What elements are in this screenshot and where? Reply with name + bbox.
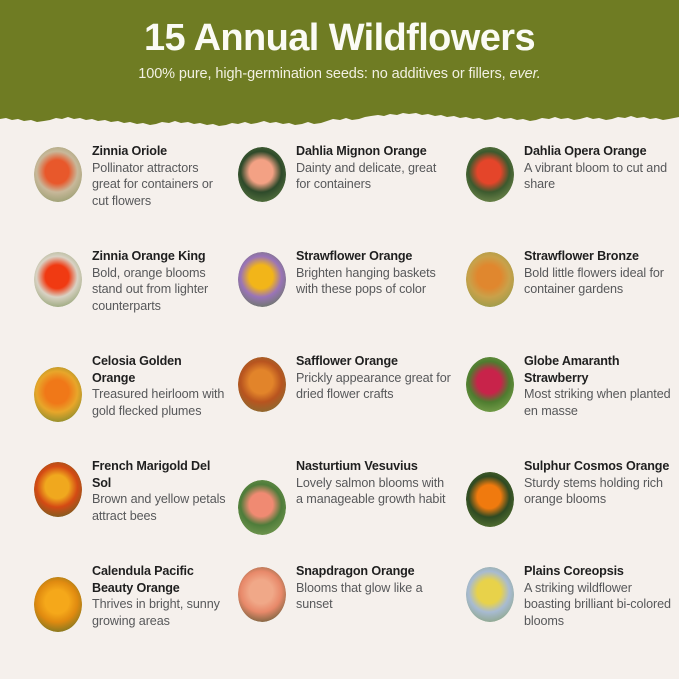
flower-thumbnail-image — [466, 567, 514, 622]
flower-card-text: Sulphur Cosmos Orange Sturdy stems holdi… — [524, 458, 679, 508]
flower-card-text: Strawflower Bronze Bold little flowers i… — [524, 248, 679, 298]
flower-name: Safflower Orange — [296, 353, 452, 370]
flower-description: A vibrant bloom to cut and share — [524, 160, 679, 193]
flower-card-text: Dahlia Mignon Orange Dainty and delicate… — [296, 143, 452, 193]
flower-card-celosia-golden-orange[interactable]: Celosia Golden Orange Treasured heirloom… — [0, 353, 226, 458]
flower-card-zinnia-oriole[interactable]: Zinnia Oriole Pollinator attractors grea… — [0, 143, 226, 248]
flower-description: Dainty and delicate, great for container… — [296, 160, 452, 193]
thumbnail-art — [466, 472, 514, 527]
page-subtitle: 100% pure, high-germination seeds: no ad… — [0, 66, 679, 83]
flower-description: Blooms that glow like a sunset — [296, 580, 452, 613]
flower-name: Globe Amaranth Strawberry — [524, 353, 679, 386]
flower-card-safflower-orange[interactable]: Safflower Orange Prickly appearance grea… — [226, 353, 452, 458]
flower-card-nasturtium-vesuvius[interactable]: Nasturtium Vesuvius Lovely salmon blooms… — [226, 458, 452, 563]
flower-thumbnail-image — [238, 480, 286, 535]
flower-card-text: Nasturtium Vesuvius Lovely salmon blooms… — [296, 458, 452, 508]
flower-name: Snapdragon Orange — [296, 563, 452, 580]
flower-card-text: Zinnia Orange King Bold, orange blooms s… — [92, 248, 226, 315]
flower-description: Prickly appearance great for dried flowe… — [296, 370, 452, 403]
flower-card-text: Snapdragon Orange Blooms that glow like … — [296, 563, 452, 613]
flower-name: French Marigold Del Sol — [92, 458, 226, 491]
flower-name: Celosia Golden Orange — [92, 353, 226, 386]
thumbnail-art — [238, 480, 286, 535]
flower-thumbnail-image — [238, 147, 286, 202]
flower-card-french-marigold-del-sol[interactable]: French Marigold Del Sol Brown and yellow… — [0, 458, 226, 563]
flower-description: A striking wildflower boasting brilliant… — [524, 580, 679, 630]
thumbnail-art — [238, 357, 286, 412]
flower-card-sulphur-cosmos-orange[interactable]: Sulphur Cosmos Orange Sturdy stems holdi… — [452, 458, 679, 563]
flower-thumbnail-image — [34, 147, 82, 202]
flower-thumbnail-image — [34, 462, 82, 517]
flower-name: Calendula Pacific Beauty Orange — [92, 563, 226, 596]
flower-description: Pollinator attractors great for containe… — [92, 160, 226, 210]
wildflower-grid: Zinnia Oriole Pollinator attractors grea… — [0, 143, 679, 679]
flower-thumbnail-image — [34, 367, 82, 422]
flower-thumbnail-image — [238, 252, 286, 307]
thumbnail-art — [238, 147, 286, 202]
flower-card-text: Zinnia Oriole Pollinator attractors grea… — [92, 143, 226, 210]
subtitle-emphasis-text: ever. — [510, 66, 541, 82]
flower-card-text: Plains Coreopsis A striking wildflower b… — [524, 563, 679, 630]
flower-description: Bold little flowers ideal for container … — [524, 265, 679, 298]
thumbnail-art — [466, 357, 514, 412]
flower-name: Strawflower Orange — [296, 248, 452, 265]
flower-name: Zinnia Oriole — [92, 143, 226, 160]
flower-name: Dahlia Opera Orange — [524, 143, 679, 160]
flower-card-text: French Marigold Del Sol Brown and yellow… — [92, 458, 226, 525]
flower-card-text: Safflower Orange Prickly appearance grea… — [296, 353, 452, 403]
flower-card-snapdragon-orange[interactable]: Snapdragon Orange Blooms that glow like … — [226, 563, 452, 668]
thumbnail-art — [34, 577, 82, 632]
flower-thumbnail-image — [238, 567, 286, 622]
flower-description: Lovely salmon blooms with a manageable g… — [296, 475, 452, 508]
flower-card-text: Celosia Golden Orange Treasured heirloom… — [92, 353, 226, 420]
flower-description: Thrives in bright, sunny growing areas — [92, 596, 226, 629]
flower-card-text: Dahlia Opera Orange A vibrant bloom to c… — [524, 143, 679, 193]
thumbnail-art — [34, 367, 82, 422]
subtitle-main-text: 100% pure, high-germination seeds: no ad… — [138, 66, 509, 82]
flower-name: Plains Coreopsis — [524, 563, 679, 580]
thumbnail-art — [238, 567, 286, 622]
flower-name: Strawflower Bronze — [524, 248, 679, 265]
flower-name: Zinnia Orange King — [92, 248, 226, 265]
flower-thumbnail-image — [466, 472, 514, 527]
thumbnail-art — [466, 147, 514, 202]
flower-name: Dahlia Mignon Orange — [296, 143, 452, 160]
flower-description: Most striking when planted en masse — [524, 386, 679, 419]
flower-description: Brown and yellow petals attract bees — [92, 491, 226, 524]
flower-thumbnail-image — [34, 577, 82, 632]
flower-description: Sturdy stems holding rich orange blooms — [524, 475, 679, 508]
thumbnail-art — [34, 252, 82, 307]
flower-card-dahlia-mignon-orange[interactable]: Dahlia Mignon Orange Dainty and delicate… — [226, 143, 452, 248]
flower-thumbnail-image — [466, 252, 514, 307]
flower-description: Bold, orange blooms stand out from light… — [92, 265, 226, 315]
flower-thumbnail-image — [34, 252, 82, 307]
flower-description: Brighten hanging baskets with these pops… — [296, 265, 452, 298]
thumbnail-art — [34, 462, 82, 517]
thumbnail-art — [466, 567, 514, 622]
flower-card-globe-amaranth-strawberry[interactable]: Globe Amaranth Strawberry Most striking … — [452, 353, 679, 458]
flower-thumbnail-image — [238, 357, 286, 412]
thumbnail-art — [466, 252, 514, 307]
flower-name: Sulphur Cosmos Orange — [524, 458, 679, 475]
flower-card-zinnia-orange-king[interactable]: Zinnia Orange King Bold, orange blooms s… — [0, 248, 226, 353]
flower-card-plains-coreopsis[interactable]: Plains Coreopsis A striking wildflower b… — [452, 563, 679, 668]
flower-card-dahlia-opera-orange[interactable]: Dahlia Opera Orange A vibrant bloom to c… — [452, 143, 679, 248]
flower-card-text: Globe Amaranth Strawberry Most striking … — [524, 353, 679, 420]
thumbnail-art — [238, 252, 286, 307]
flower-card-strawflower-bronze[interactable]: Strawflower Bronze Bold little flowers i… — [452, 248, 679, 353]
flower-card-calendula-pacific-beauty-orange[interactable]: Calendula Pacific Beauty Orange Thrives … — [0, 563, 226, 668]
flower-thumbnail-image — [466, 147, 514, 202]
flower-card-text: Calendula Pacific Beauty Orange Thrives … — [92, 563, 226, 630]
flower-card-strawflower-orange[interactable]: Strawflower Orange Brighten hanging bask… — [226, 248, 452, 353]
flower-thumbnail-image — [466, 357, 514, 412]
flower-name: Nasturtium Vesuvius — [296, 458, 452, 475]
header-content: 15 Annual Wildflowers 100% pure, high-ge… — [0, 0, 679, 83]
flower-description: Treasured heirloom with gold flecked plu… — [92, 386, 226, 419]
page-header: 15 Annual Wildflowers 100% pure, high-ge… — [0, 0, 679, 128]
thumbnail-art — [34, 147, 82, 202]
page-title: 15 Annual Wildflowers — [0, 18, 679, 60]
flower-card-text: Strawflower Orange Brighten hanging bask… — [296, 248, 452, 298]
